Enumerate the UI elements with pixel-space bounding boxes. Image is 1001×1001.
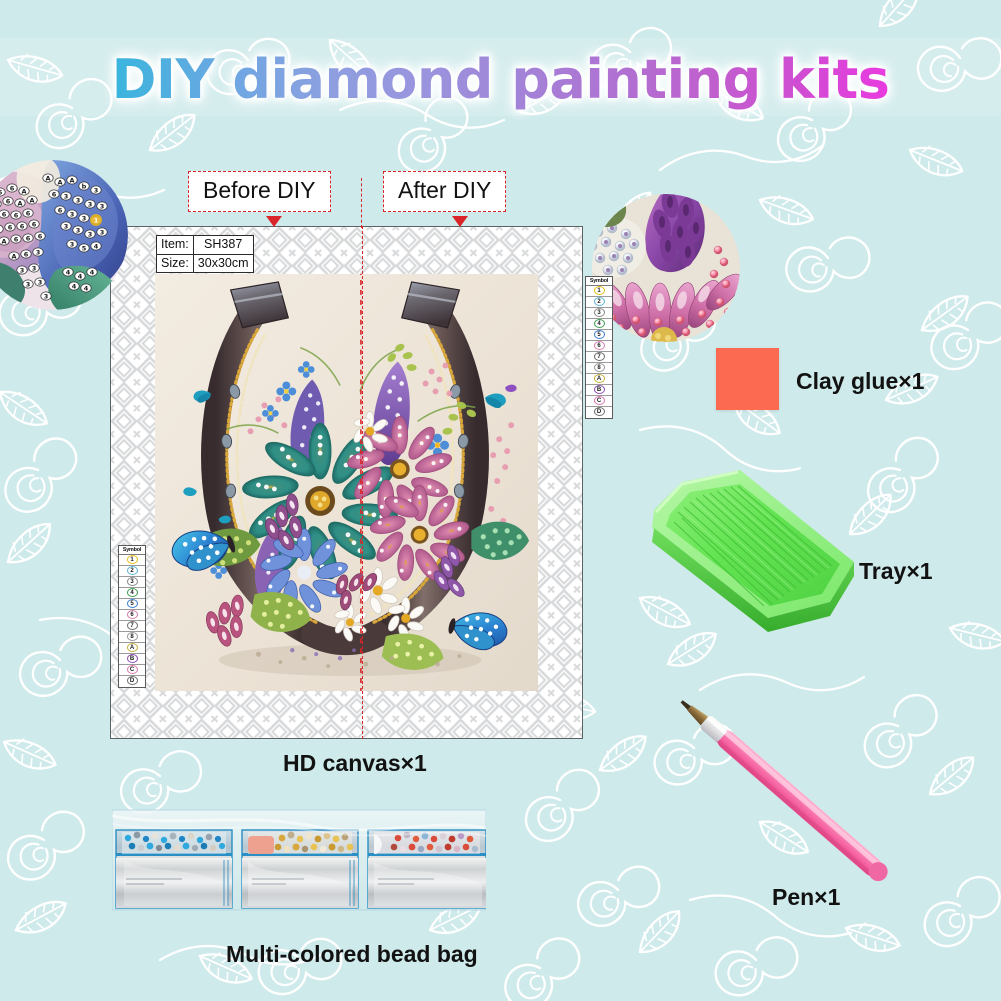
symbol-mark: 1	[594, 286, 605, 295]
svg-text:3: 3	[94, 186, 99, 194]
symbol-legend-cell: 8	[586, 363, 612, 374]
symbol-legend-body: 12345678ABCD	[119, 555, 145, 687]
svg-text:6: 6	[10, 184, 15, 192]
hd-canvas-caption: HD canvas×1	[283, 750, 427, 777]
bead-bags-illustration	[112, 806, 486, 923]
clay-glue-caption: Clay glue×1	[796, 368, 924, 395]
symbol-legend-cell: 4	[119, 588, 145, 599]
symbol-mark: B	[594, 385, 605, 394]
svg-text:A: A	[11, 252, 16, 260]
svg-text:A: A	[45, 174, 50, 182]
hd-canvas-panel: Item: SH387 Size: 30x30cm	[110, 226, 583, 739]
symbol-legend-after: Symbol 12345678ABCD	[585, 276, 613, 419]
symbol-mark: 8	[127, 632, 138, 641]
svg-text:3: 3	[38, 278, 43, 286]
svg-text:4: 4	[66, 268, 71, 276]
symbol-mark: A	[594, 374, 605, 383]
canvas-size-value: 30x30cm	[193, 254, 253, 273]
svg-text:6: 6	[2, 210, 7, 218]
symbol-mark: 1	[127, 555, 138, 564]
svg-text:A: A	[17, 199, 22, 207]
symbol-legend-cell: D	[119, 676, 145, 687]
symbol-legend-cell: C	[119, 665, 145, 676]
svg-text:6: 6	[6, 197, 11, 205]
symbol-mark: 5	[127, 599, 138, 608]
svg-text:6: 6	[26, 234, 31, 242]
symbol-legend-cell: C	[586, 396, 612, 407]
canvas-item-label: Item:	[157, 236, 194, 255]
symbol-legend-cell: 2	[586, 297, 612, 308]
symbol-legend-cell: A	[586, 374, 612, 385]
svg-text:4: 4	[94, 242, 99, 250]
bead-bag-caption: Multi-colored bead bag	[226, 941, 478, 968]
svg-text:6: 6	[24, 250, 29, 258]
svg-text:6: 6	[52, 190, 57, 198]
symbol-mark: A	[127, 643, 138, 652]
symbol-legend-cell: 1	[586, 286, 612, 297]
svg-text:5: 5	[82, 244, 87, 252]
symbol-legend-cell: 5	[586, 330, 612, 341]
svg-text:3: 3	[20, 266, 25, 274]
symbol-legend-before: Symbol 12345678ABCD	[118, 545, 146, 688]
svg-text:3: 3	[44, 292, 49, 300]
svg-text:4: 4	[78, 272, 83, 280]
symbol-mark: 4	[127, 588, 138, 597]
svg-text:3: 3	[64, 192, 69, 200]
svg-text:6: 6	[20, 222, 25, 230]
after-diy-detail-circle	[592, 194, 740, 342]
svg-text:6: 6	[14, 211, 19, 219]
symbol-legend-cell: B	[586, 385, 612, 396]
pen-caption: Pen×1	[772, 884, 840, 911]
svg-text:1: 1	[94, 216, 99, 224]
canvas-info-row-size: Size: 30x30cm	[157, 254, 254, 273]
symbol-legend-cell: 1	[119, 555, 145, 566]
symbol-mark: 6	[127, 610, 138, 619]
symbol-mark: C	[594, 396, 605, 405]
svg-text:b: b	[82, 182, 87, 190]
comparison-divider-canvas	[362, 226, 363, 739]
symbol-legend-cell: 4	[586, 319, 612, 330]
symbol-legend-body: 12345678ABCD	[586, 286, 612, 418]
clay-glue-swatch	[716, 348, 779, 410]
symbol-mark: C	[127, 665, 138, 674]
symbol-legend-header: Symbol	[586, 277, 612, 286]
symbol-legend-cell: 6	[119, 610, 145, 621]
svg-text:4: 4	[84, 284, 89, 292]
symbol-mark: B	[127, 654, 138, 663]
symbol-mark: 2	[594, 297, 605, 306]
label-after-diy: After DIY	[383, 171, 506, 212]
symbol-mark: D	[594, 407, 605, 416]
svg-text:3: 3	[100, 202, 105, 210]
page-title: DIY diamond painting kits	[0, 48, 1001, 111]
symbol-legend-cell: A	[119, 643, 145, 654]
svg-text:A: A	[1, 237, 6, 245]
svg-text:6: 6	[8, 223, 13, 231]
svg-text:4: 4	[90, 268, 95, 276]
svg-text:3: 3	[100, 228, 105, 236]
symbol-mark: 3	[594, 308, 605, 317]
svg-text:3: 3	[64, 222, 69, 230]
before-diy-arrow-icon	[266, 216, 282, 227]
symbol-legend-cell: 6	[586, 341, 612, 352]
comparison-divider-upper	[361, 178, 362, 228]
symbol-mark: 2	[127, 566, 138, 575]
svg-text:6: 6	[38, 232, 43, 240]
symbol-legend-cell: D	[586, 407, 612, 418]
symbol-mark: 5	[594, 330, 605, 339]
symbol-legend-cell: 8	[119, 632, 145, 643]
symbol-mark: 6	[594, 341, 605, 350]
svg-text:3: 3	[36, 248, 41, 256]
symbol-legend-header: Symbol	[119, 546, 145, 555]
svg-text:3: 3	[70, 210, 75, 218]
svg-text:3: 3	[76, 196, 81, 204]
canvas-artwork	[155, 274, 538, 691]
svg-text:6: 6	[14, 235, 19, 243]
symbol-mark: 3	[127, 577, 138, 586]
label-before-diy: Before DIY	[188, 171, 331, 212]
svg-text:6: 6	[32, 220, 37, 228]
svg-text:3: 3	[88, 230, 93, 238]
svg-text:A: A	[57, 178, 62, 186]
svg-text:3: 3	[26, 280, 31, 288]
canvas-info-row-item: Item: SH387	[157, 236, 254, 255]
svg-text:A: A	[29, 196, 34, 204]
after-diy-arrow-icon	[452, 216, 468, 227]
symbol-mark: D	[127, 676, 138, 685]
symbol-legend-cell: 2	[119, 566, 145, 577]
svg-text:4: 4	[72, 282, 77, 290]
symbol-mark: 7	[594, 352, 605, 361]
symbol-legend-cell: 7	[119, 621, 145, 632]
canvas-size-label: Size:	[157, 254, 194, 273]
tray-caption: Tray×1	[859, 558, 933, 585]
canvas-info-table: Item: SH387 Size: 30x30cm	[156, 235, 254, 273]
svg-text:3: 3	[88, 200, 93, 208]
svg-text:3: 3	[70, 240, 75, 248]
symbol-legend-cell: B	[119, 654, 145, 665]
svg-text:A: A	[69, 176, 74, 184]
symbol-legend-cell: 3	[586, 308, 612, 319]
svg-text:6: 6	[26, 209, 31, 217]
symbol-legend-cell: 3	[119, 577, 145, 588]
svg-text:A: A	[21, 187, 26, 195]
symbol-legend-cell: 7	[586, 352, 612, 363]
symbol-legend-cell: 5	[119, 599, 145, 610]
svg-text:6: 6	[58, 206, 63, 214]
canvas-item-value: SH387	[193, 236, 253, 255]
svg-text:3: 3	[76, 226, 81, 234]
svg-text:3: 3	[32, 264, 37, 272]
symbol-mark: 4	[594, 319, 605, 328]
symbol-mark: 7	[127, 621, 138, 630]
symbol-mark: 8	[594, 363, 605, 372]
svg-text:3: 3	[82, 214, 87, 222]
